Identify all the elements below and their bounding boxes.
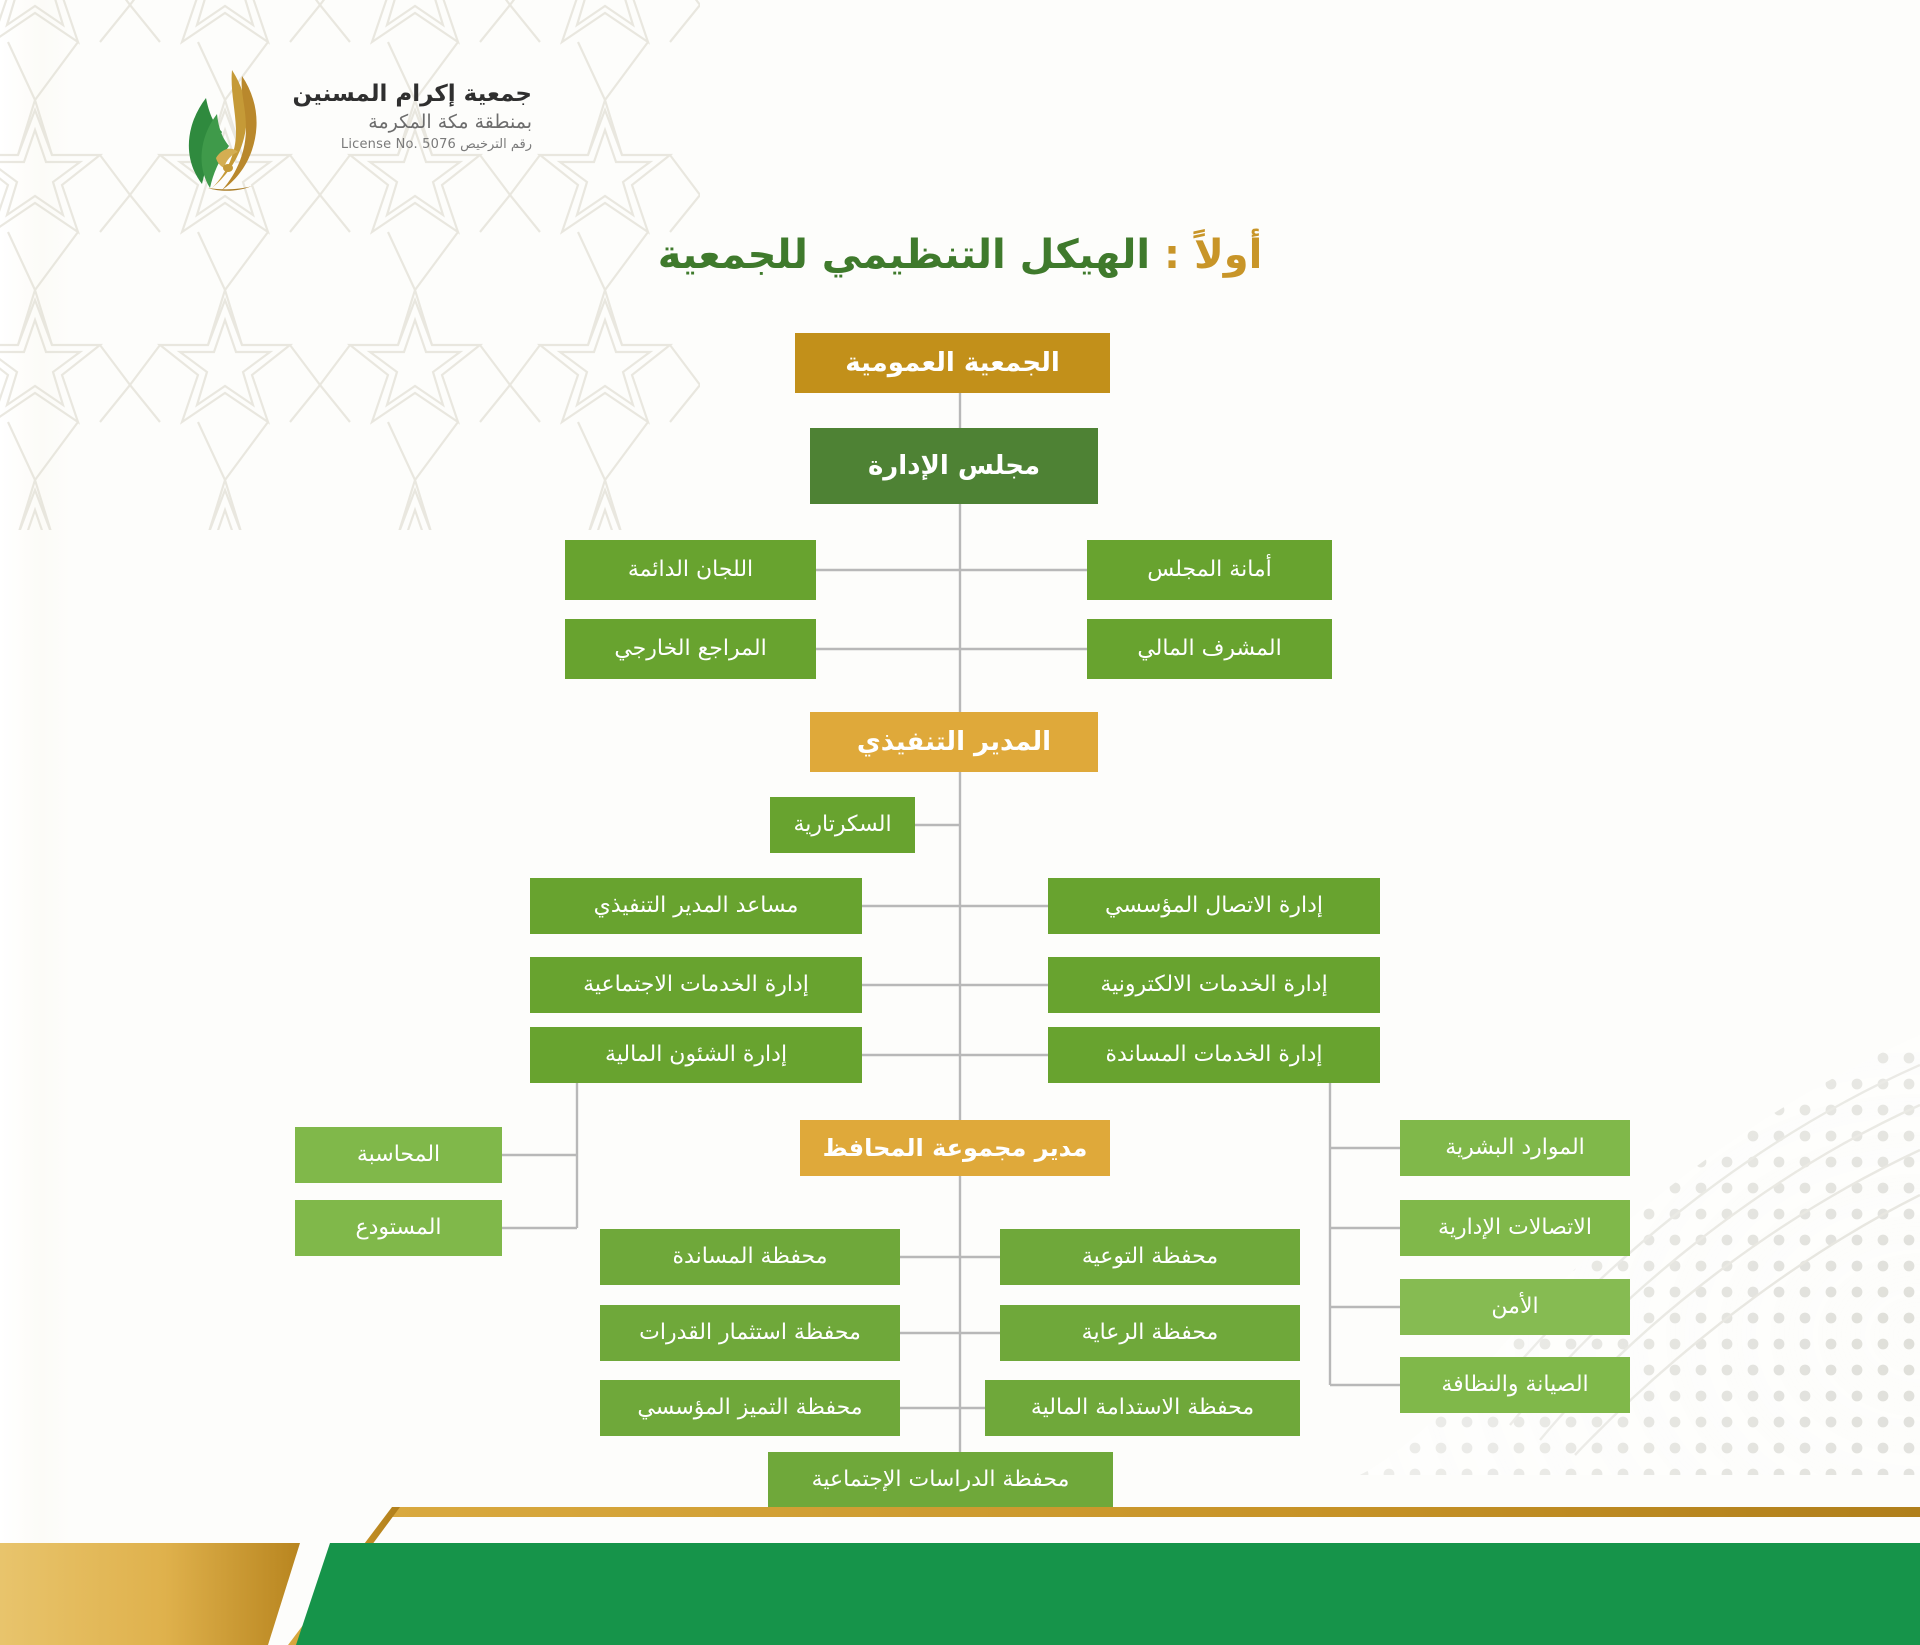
node-external-auditor[interactable]: المراجع الخارجي [565,619,816,679]
node-label: إدارة الاتصال المؤسسي [1105,894,1323,918]
node-label: الموارد البشرية [1445,1136,1585,1160]
node-portfolio-institutional-excellence[interactable]: محفظة التميز المؤسسي [600,1380,900,1436]
node-standing-committees[interactable]: اللجان الدائمة [565,540,816,600]
node-label: اللجان الدائمة [628,558,753,582]
node-label: إدارة الخدمات الالكترونية [1100,973,1327,997]
node-label: محفظة الرعاية [1082,1321,1219,1345]
node-financial-affairs-dept[interactable]: إدارة الشئون المالية [530,1027,862,1083]
node-label: الأمن [1491,1295,1538,1319]
node-social-services-dept[interactable]: إدارة الخدمات الاجتماعية [530,957,862,1013]
node-label: محفظة التوعية [1082,1245,1218,1269]
node-accounting[interactable]: المحاسبة [295,1127,502,1183]
node-label: إدارة الشئون المالية [605,1043,787,1067]
node-portfolio-group-manager[interactable]: مدير مجموعة المحافظ [800,1120,1110,1176]
node-electronic-services-dept[interactable]: إدارة الخدمات الالكترونية [1048,957,1380,1013]
node-label: المدير التنفيذي [857,728,1051,757]
node-label: مدير مجموعة المحافظ [823,1135,1088,1161]
node-board-of-directors[interactable]: مجلس الإدارة [810,428,1098,504]
node-portfolio-awareness[interactable]: محفظة التوعية [1000,1229,1300,1285]
node-portfolio-capacity-investment[interactable]: محفظة استثمار القدرات [600,1305,900,1361]
node-executive-director[interactable]: المدير التنفيذي [810,712,1098,772]
node-label: مجلس الإدارة [868,452,1040,481]
node-security[interactable]: الأمن [1400,1279,1630,1335]
node-portfolio-support[interactable]: محفظة المساندة [600,1229,900,1285]
node-administrative-communications[interactable]: الاتصالات الإدارية [1400,1200,1630,1256]
org-chart: الجمعية العمومية مجلس الإدارة اللجان الد… [0,0,1920,1645]
node-warehouse[interactable]: المستودع [295,1200,502,1256]
node-label: الاتصالات الإدارية [1438,1216,1592,1240]
node-label: إدارة الخدمات المساندة [1106,1043,1323,1067]
node-label: المستودع [355,1216,441,1240]
node-label: المشرف المالي [1137,637,1281,661]
node-portfolio-financial-sustainability[interactable]: محفظة الاستدامة المالية [985,1380,1300,1436]
node-label: مساعد المدير التنفيذي [594,894,799,918]
node-deputy-executive-director[interactable]: مساعد المدير التنفيذي [530,878,862,934]
node-label: الجمعية العمومية [845,349,1060,378]
node-label: المراجع الخارجي [614,637,766,661]
node-general-assembly[interactable]: الجمعية العمومية [795,333,1110,393]
node-maintenance-and-cleaning[interactable]: الصيانة والنظافة [1400,1357,1630,1413]
node-corporate-communication-dept[interactable]: إدارة الاتصال المؤسسي [1048,878,1380,934]
node-financial-supervisor[interactable]: المشرف المالي [1087,619,1332,679]
node-label: الصيانة والنظافة [1441,1373,1588,1397]
node-label: محفظة استثمار القدرات [639,1321,861,1345]
node-support-services-dept[interactable]: إدارة الخدمات المساندة [1048,1027,1380,1083]
node-label: أمانة المجلس [1147,558,1272,582]
node-label: محفظة المساندة [673,1245,828,1269]
node-secretariat[interactable]: السكرتارية [770,797,915,853]
node-label: إدارة الخدمات الاجتماعية [583,973,809,997]
node-portfolio-social-studies[interactable]: محفظة الدراسات الإجتماعية [768,1452,1113,1508]
node-label: محفظة الاستدامة المالية [1031,1396,1254,1420]
node-label: المحاسبة [357,1143,440,1167]
node-label: السكرتارية [793,813,891,837]
node-board-secretariat[interactable]: أمانة المجلس [1087,540,1332,600]
node-human-resources[interactable]: الموارد البشرية [1400,1120,1630,1176]
node-label: محفظة التميز المؤسسي [637,1396,862,1420]
node-label: محفظة الدراسات الإجتماعية [812,1468,1070,1492]
node-portfolio-care[interactable]: محفظة الرعاية [1000,1305,1300,1361]
connector-lines [0,0,1920,1645]
